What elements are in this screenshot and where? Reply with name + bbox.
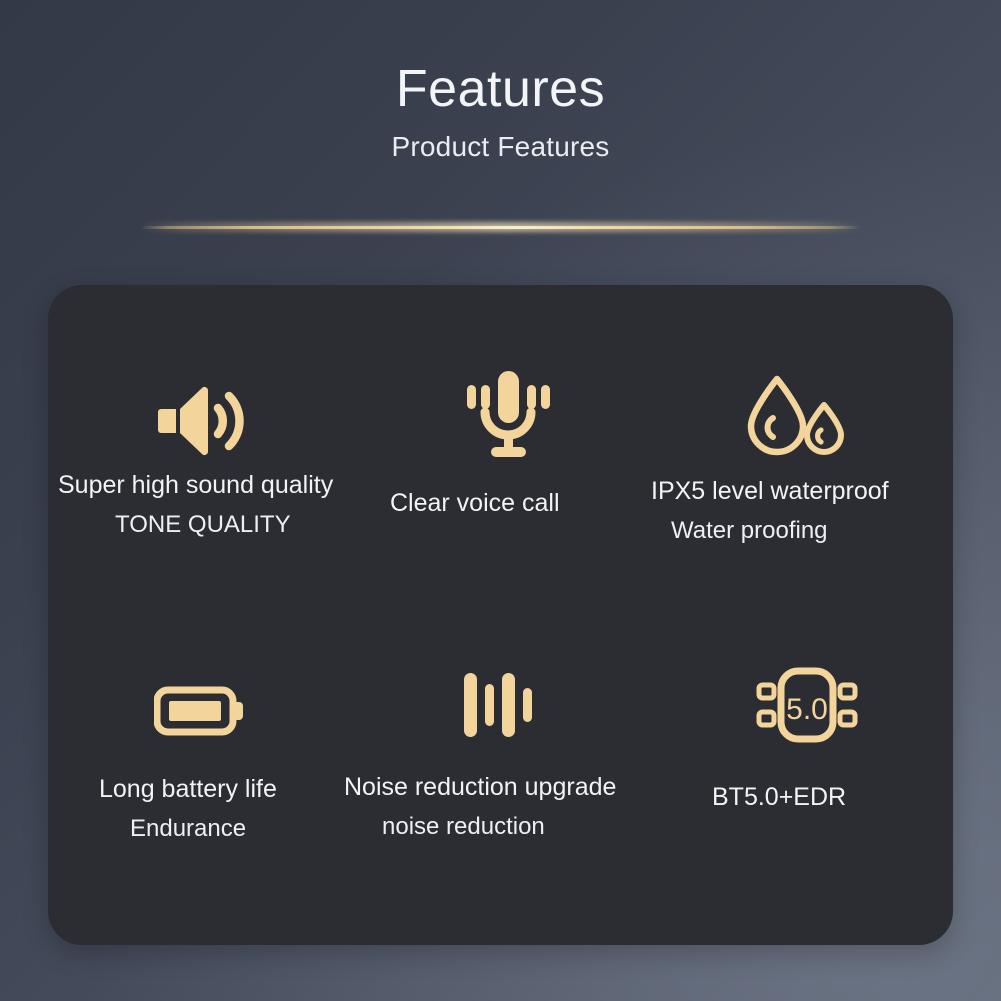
feature-item-sound-quality: Super high sound quality TONE QUALITY — [58, 373, 358, 541]
feature-sublabel: TONE QUALITY — [115, 510, 358, 541]
feature-label: Super high sound quality — [58, 469, 358, 501]
feature-item-battery-life: Long battery life Endurance — [58, 663, 358, 845]
battery-icon — [58, 663, 358, 759]
chip-version-text: 5.0 — [786, 693, 828, 726]
feature-item-bluetooth: 5.0 BT5.0+EDR — [623, 657, 923, 813]
microphone-icon — [348, 367, 648, 463]
sound-wave-bars-icon — [328, 657, 628, 753]
feature-label: BT5.0+EDR — [712, 781, 923, 813]
water-drops-icon — [623, 367, 923, 463]
feature-item-voice-call: Clear voice call — [348, 367, 648, 519]
speaker-volume-icon — [58, 373, 358, 469]
gold-divider-line — [140, 226, 861, 229]
feature-sublabel: noise reduction — [382, 812, 628, 843]
feature-label: IPX5 level waterproof — [651, 475, 923, 507]
features-card: Super high sound quality TONE QUALITY — [48, 285, 953, 945]
features-grid: Super high sound quality TONE QUALITY — [48, 285, 953, 945]
feature-item-waterproof: IPX5 level waterproof Water proofing — [623, 367, 923, 547]
feature-label: Noise reduction upgrade — [344, 771, 628, 803]
feature-item-noise-reduction: Noise reduction upgrade noise reduction — [328, 657, 628, 843]
bluetooth-chip-icon: 5.0 — [623, 657, 923, 753]
feature-sublabel: Endurance — [130, 814, 358, 845]
feature-label: Clear voice call — [390, 487, 648, 519]
feature-infographic-page: Features Product Features Super high sou… — [0, 0, 1001, 1001]
page-title: Features — [0, 0, 1001, 117]
page-subtitle: Product Features — [0, 117, 1001, 163]
header: Features Product Features — [0, 0, 1001, 163]
gold-divider — [140, 222, 861, 232]
feature-sublabel: Water proofing — [671, 516, 923, 547]
feature-label: Long battery life — [99, 773, 358, 805]
